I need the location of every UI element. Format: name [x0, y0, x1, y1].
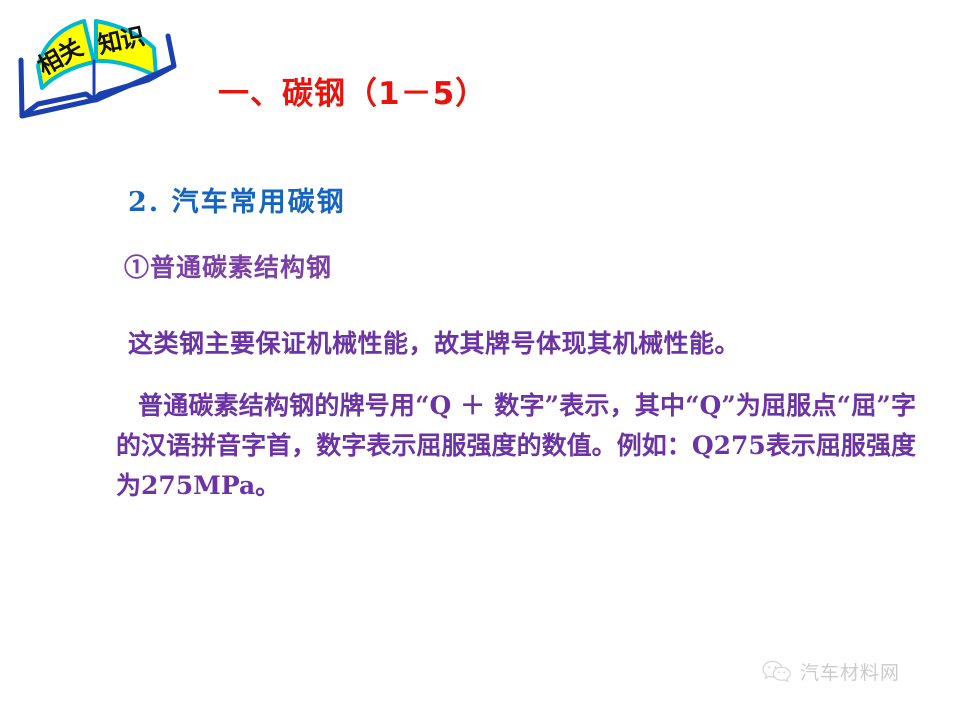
- wechat-icon: [762, 660, 792, 684]
- wechat-eye-right-2: [783, 671, 785, 673]
- paragraph-1: 这类钢主要保证机械性能，故其牌号体现其机械性能。: [128, 324, 740, 360]
- wechat-eye-left-1: [768, 666, 770, 668]
- section-subheading: 2. 汽车常用碳钢: [128, 180, 346, 219]
- wechat-eye-right-1: [778, 671, 780, 673]
- open-book-badge: 相关 知识: [8, 4, 188, 129]
- slide-canvas: 相关 知识 一、碳钢（1－5） 2. 汽车常用碳钢 ①普通碳素结构钢 这类钢主要…: [0, 0, 960, 720]
- list-item-1-heading: ①普通碳素结构钢: [124, 248, 332, 284]
- open-book-icon: [8, 4, 188, 129]
- paragraph-2: 普通碳素结构钢的牌号用“Q ＋ 数字”表示，其中“Q”为屈服点“屈”字的汉语拼音…: [116, 386, 916, 506]
- wechat-bubble-small: [773, 667, 790, 681]
- watermark-label: 汽车材料网: [800, 658, 900, 685]
- watermark: 汽车材料网: [762, 658, 900, 685]
- slide-title: 一、碳钢（1－5）: [218, 68, 487, 113]
- wechat-eye-left-2: [774, 666, 776, 668]
